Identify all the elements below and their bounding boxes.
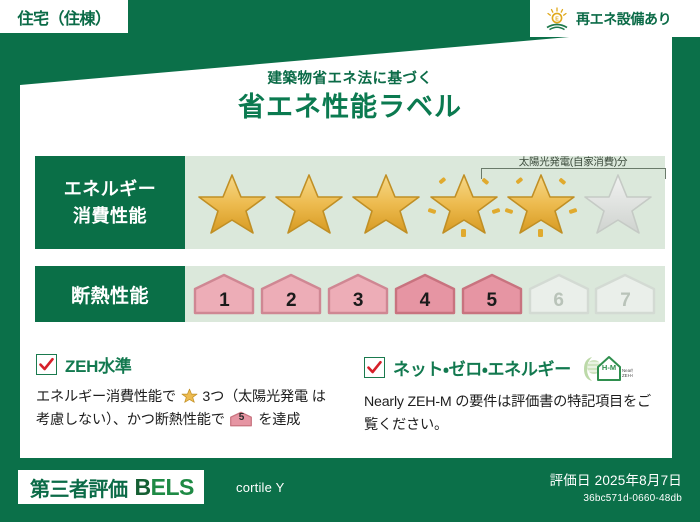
star-filled-solar xyxy=(504,167,578,239)
insulation-chip: 5 xyxy=(461,273,523,315)
star-filled xyxy=(272,167,346,239)
renewable-equipment-badge: E 再エネ設備あり xyxy=(530,0,700,37)
zeh-desc-part-a: エネルギー消費性能で xyxy=(36,389,176,405)
energy-performance-label: 住宅（住棟） E 再エネ設備あり 建築物省エネ法に基づく 省エネ性能ラベル エネ… xyxy=(0,0,700,522)
insulation-performance-label-box: 断熱性能 xyxy=(35,266,185,322)
building-type-chip: 住宅（住棟） xyxy=(0,0,128,33)
net-zero-energy-panel: ネット・ゼロ・エネルギー H-M Nearly ZEH-M Nearly ZEH… xyxy=(364,352,664,437)
insulation-chip: 4 xyxy=(394,273,456,315)
energy-performance-row: エネルギー 消費性能 太陽光発電(自家消費)分 xyxy=(35,156,665,249)
bels-certification-chip: 第三者評価 BELS xyxy=(18,470,204,504)
insulation-rating-area: 1 2 3 4 5 xyxy=(185,266,665,322)
energy-rating-area: 太陽光発電(自家消費)分 xyxy=(185,156,665,249)
zeh-m-logo-sub2: ZEH-M xyxy=(622,373,633,378)
insulation-label: 断熱性能 xyxy=(71,281,149,308)
insulation-chip-value: 4 xyxy=(420,290,431,312)
insulation-chip-value: 7 xyxy=(620,290,631,312)
insulation-grade-chips: 1 2 3 4 5 xyxy=(185,266,665,322)
project-name: cortile Y xyxy=(236,480,285,495)
footer-meta: 評価日 2025年8月7日 36bc571d-0660-48db xyxy=(550,469,682,504)
net-zero-title: ネット・ゼロ・エネルギー xyxy=(393,355,571,380)
third-party-evaluation-label: 第三者評価 xyxy=(30,473,128,502)
inline-star-icon xyxy=(181,387,198,404)
star-filled-solar xyxy=(427,167,501,239)
footer-bar: 第三者評価 BELS cortile Y 評価日 2025年8月7日 36bc5… xyxy=(0,458,700,522)
insulation-chip-value: 1 xyxy=(219,290,230,312)
net-zero-heading: ネット・ゼロ・エネルギー H-M Nearly ZEH-M xyxy=(364,352,664,382)
insulation-chip: 7 xyxy=(594,273,656,315)
insulation-chip: 3 xyxy=(327,273,389,315)
check-icon xyxy=(36,354,57,375)
star-empty xyxy=(581,167,655,239)
inline-grade-chip: 5 xyxy=(230,411,252,427)
inline-grade-value: 5 xyxy=(230,411,252,427)
energy-label-line1: エネルギー xyxy=(64,176,157,202)
zeh-standard-title: ZEH水準 xyxy=(65,352,132,377)
net-zero-description: Nearly ZEH-M の要件は評価書の特記項目をご覧ください。 xyxy=(364,391,664,437)
renewable-badge-label: 再エネ設備あり xyxy=(576,9,671,29)
bels-logo: BELS xyxy=(135,474,194,501)
zeh-standard-heading: ZEH水準 xyxy=(36,352,336,377)
zeh-m-house-logo-icon: H-M Nearly ZEH-M xyxy=(581,352,633,382)
insulation-chip: 2 xyxy=(260,273,322,315)
document-id: 36bc571d-0660-48db xyxy=(550,493,682,504)
zeh-standard-panel: ZEH水準 エネルギー消費性能で 3つ（太陽光発電 は考慮しない）、かつ断熱性能… xyxy=(36,352,336,432)
star-filled xyxy=(349,167,423,239)
insulation-chip-value: 5 xyxy=(487,290,498,312)
page-title: 省エネ性能ラベル xyxy=(0,85,700,124)
bels-logo-els: ELS xyxy=(151,474,194,500)
svg-text:E: E xyxy=(555,16,559,22)
check-icon xyxy=(364,357,385,378)
insulation-chip: 1 xyxy=(193,273,255,315)
energy-performance-label-box: エネルギー 消費性能 xyxy=(35,156,185,249)
bels-logo-b: B xyxy=(135,474,151,500)
evaluation-date: 評価日 2025年8月7日 xyxy=(550,469,682,489)
insulation-chip-value: 3 xyxy=(353,290,364,312)
solar-sun-icon: E xyxy=(544,7,570,31)
insulation-chip-value: 2 xyxy=(286,290,297,312)
zeh-desc-part-b: 3つ（太陽光発電 xyxy=(202,389,308,405)
insulation-chip: 6 xyxy=(528,273,590,315)
insulation-performance-row: 断熱性能 1 2 3 4 xyxy=(35,266,665,322)
zeh-standard-description: エネルギー消費性能で 3つ（太陽光発電 は考慮しない）、かつ断熱性能で 5 を達… xyxy=(36,386,336,432)
insulation-chip-value: 6 xyxy=(553,290,564,312)
energy-label-line2: 消費性能 xyxy=(73,203,147,229)
zeh-m-logo-text: H-M xyxy=(602,363,616,372)
star-filled xyxy=(195,167,269,239)
zeh-desc-part-d: を達成 xyxy=(258,412,300,428)
building-type-label: 住宅（住棟） xyxy=(17,5,110,29)
star-rating xyxy=(185,156,665,249)
